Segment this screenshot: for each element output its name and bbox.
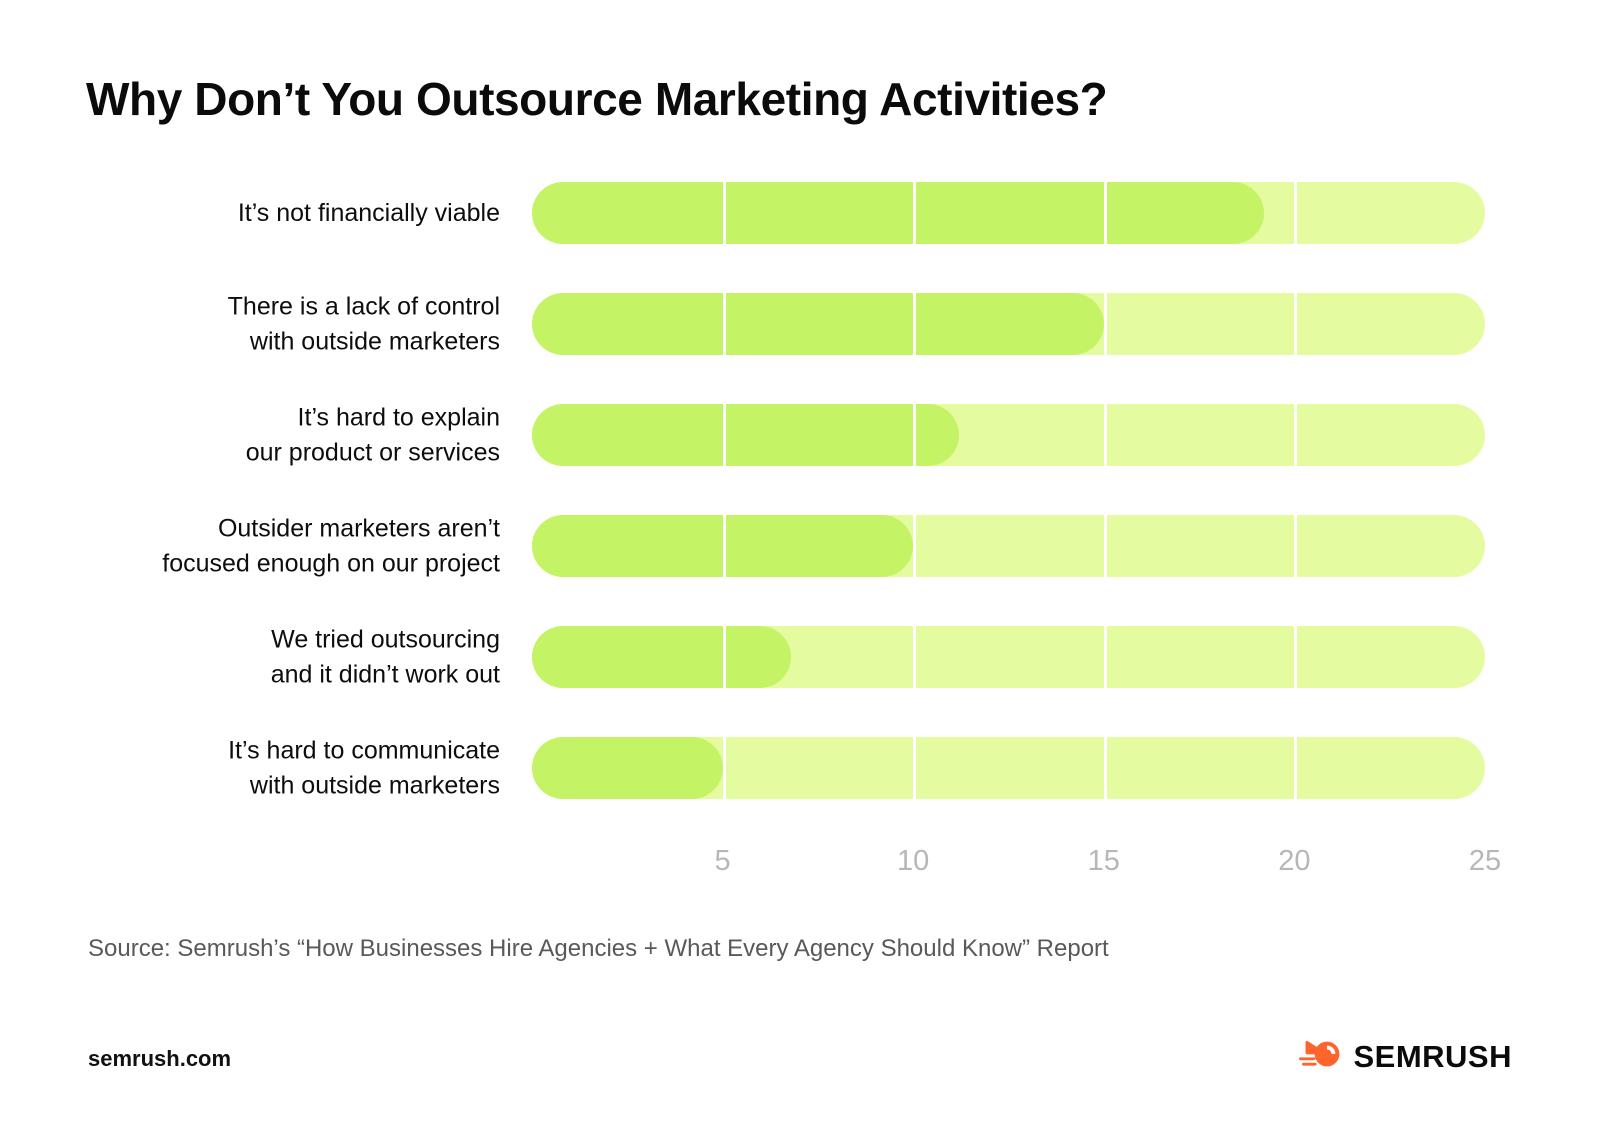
bar-row: It’s hard to communicate with outside ma… [0, 737, 1600, 799]
chart-gridline [723, 182, 726, 244]
page-title: Why Don’t You Outsource Marketing Activi… [86, 72, 1107, 126]
bar-category-label: It’s not financially viable [60, 196, 500, 231]
x-axis: 510152025 [532, 845, 1485, 889]
semrush-comet-icon [1297, 1038, 1341, 1075]
bar-fill [532, 626, 791, 688]
bar-category-label: There is a lack of control with outside … [60, 290, 500, 359]
chart-gridline [1104, 182, 1107, 244]
chart-gridline [913, 737, 916, 799]
chart-gridline [1104, 404, 1107, 466]
bar-track [532, 182, 1485, 244]
chart-gridline [723, 515, 726, 577]
footer-website-url: semrush.com [88, 1046, 231, 1072]
bar-row: It’s hard to explain our product or serv… [0, 404, 1600, 466]
chart-gridline [1104, 515, 1107, 577]
x-axis-tick-label: 20 [1278, 845, 1310, 878]
chart-gridline [913, 293, 916, 355]
chart-gridline [1294, 737, 1297, 799]
bar-fill [532, 737, 723, 799]
chart-gridline [1104, 293, 1107, 355]
chart-gridline [1104, 737, 1107, 799]
bar-fill [532, 293, 1104, 355]
chart-gridline [723, 626, 726, 688]
chart-gridline [913, 404, 916, 466]
bar-category-label: We tried outsourcing and it didn’t work … [60, 623, 500, 692]
source-note: Source: Semrush’s “How Businesses Hire A… [88, 935, 1109, 963]
bar-row: We tried outsourcing and it didn’t work … [0, 626, 1600, 688]
chart-gridline [723, 737, 726, 799]
bar-chart-plot-area: It’s not financially viableThere is a la… [0, 182, 1600, 842]
x-axis-tick-label: 5 [715, 845, 731, 878]
bar-track [532, 626, 1485, 688]
bar-track [532, 515, 1485, 577]
chart-gridline [1294, 293, 1297, 355]
chart-gridline [1294, 626, 1297, 688]
x-axis-tick-label: 15 [1088, 845, 1120, 878]
bar-category-label: It’s hard to explain our product or serv… [60, 401, 500, 470]
infographic-canvas: Why Don’t You Outsource Marketing Activi… [0, 0, 1600, 1125]
semrush-wordmark: SEMRUSH [1353, 1039, 1512, 1075]
bar-track [532, 737, 1485, 799]
chart-gridline [1104, 626, 1107, 688]
chart-gridline [913, 515, 916, 577]
bar-row: It’s not financially viable [0, 182, 1600, 244]
chart-gridline [1294, 404, 1297, 466]
chart-gridline [913, 626, 916, 688]
bar-fill [532, 182, 1264, 244]
chart-gridline [723, 293, 726, 355]
x-axis-tick-label: 10 [897, 845, 929, 878]
chart-gridline [1294, 182, 1297, 244]
bar-track [532, 293, 1485, 355]
chart-gridline [723, 404, 726, 466]
x-axis-tick-label: 25 [1469, 845, 1501, 878]
bar-category-label: It’s hard to communicate with outside ma… [60, 734, 500, 803]
bar-track [532, 404, 1485, 466]
bar-fill [532, 404, 959, 466]
bar-row: Outsider marketers aren’t focused enough… [0, 515, 1600, 577]
chart-gridline [913, 182, 916, 244]
chart-gridline [1294, 515, 1297, 577]
semrush-logo: SEMRUSH [1297, 1038, 1512, 1075]
bar-row: There is a lack of control with outside … [0, 293, 1600, 355]
bar-category-label: Outsider marketers aren’t focused enough… [60, 512, 500, 581]
